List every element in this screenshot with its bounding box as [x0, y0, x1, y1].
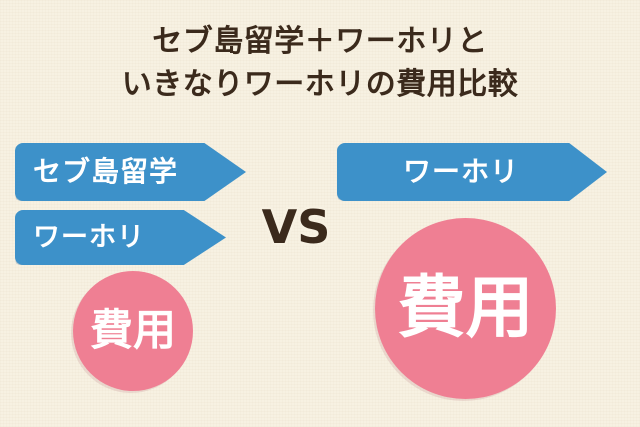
ribbon-right-working-holiday: ワーホリ	[337, 143, 607, 201]
cost-comparison-infographic: セブ島留学＋ワーホリと いきなりワーホリの費用比較 セブ島留学 ワーホリ VS …	[0, 0, 640, 427]
ribbon-left-working-holiday-label: ワーホリ	[33, 224, 145, 251]
cost-circle-right-label: 費用	[397, 275, 533, 343]
cost-circle-left-label: 費用	[90, 310, 176, 353]
page-title-line-1: セブ島留学＋ワーホリと	[0, 20, 640, 63]
ribbon-cebu-study-abroad: セブ島留学	[15, 143, 246, 201]
ribbon-right-working-holiday-label: ワーホリ	[403, 158, 519, 186]
ribbon-cebu-study-abroad-label: セブ島留学	[33, 158, 178, 186]
ribbon-left-working-holiday: ワーホリ	[15, 210, 226, 265]
page-title-line-2: いきなりワーホリの費用比較	[0, 63, 640, 106]
cost-circle-right: 費用	[375, 218, 556, 399]
cost-circle-left: 費用	[73, 271, 193, 391]
page-title: セブ島留学＋ワーホリと いきなりワーホリの費用比較	[0, 20, 640, 106]
versus-label: VS	[258, 202, 334, 252]
